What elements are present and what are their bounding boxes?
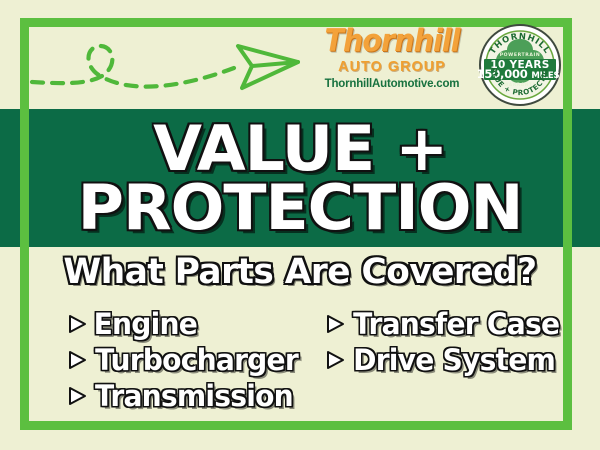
parts-column-left: Engine Turbocharger Transmission — [20, 306, 324, 418]
coverage-question: What Parts Are Covered? — [6, 252, 594, 292]
logo-wordmark: Thornhill — [322, 26, 462, 57]
part-label: Drive System — [353, 343, 555, 377]
dashed-loop-path-icon — [26, 24, 306, 104]
list-item: Transmission — [66, 378, 324, 414]
warranty-seal-badge: THORNHILL POWERTRAIN 10 YEARS 150,000 MI… — [478, 23, 562, 107]
part-label: Engine — [94, 307, 197, 341]
list-item: Drive System — [324, 342, 572, 378]
logo-subtitle: AUTO GROUP — [320, 58, 464, 75]
list-item: Transfer Case — [324, 306, 572, 342]
triangle-bullet-icon — [324, 313, 346, 335]
headline-band — [0, 109, 600, 247]
triangle-bullet-icon — [66, 349, 88, 371]
list-item: Turbocharger — [66, 342, 324, 378]
paper-plane-arrow-icon — [238, 46, 298, 88]
part-label: Turbocharger — [95, 343, 298, 377]
covered-parts-list: Engine Turbocharger Transmission Tra — [20, 306, 572, 418]
parts-column-right: Transfer Case Drive System — [324, 306, 572, 418]
flight-path-decoration — [26, 24, 306, 104]
seal-powertrain-text: POWERTRAIN — [500, 52, 541, 58]
part-label: Transmission — [95, 379, 293, 413]
triangle-bullet-icon — [324, 349, 346, 371]
triangle-bullet-icon — [66, 313, 88, 335]
logo-website-url: ThornhillAutomotive.com — [316, 78, 468, 91]
thornhill-logo: Thornhill AUTO GROUP ThornhillAutomotive… — [316, 26, 468, 104]
list-item: Engine — [66, 306, 324, 342]
triangle-bullet-icon — [66, 385, 88, 407]
part-label: Transfer Case — [353, 307, 559, 341]
header-area: Thornhill AUTO GROUP ThornhillAutomotive… — [0, 0, 600, 109]
advertisement-banner: Thornhill AUTO GROUP ThornhillAutomotive… — [0, 0, 600, 450]
